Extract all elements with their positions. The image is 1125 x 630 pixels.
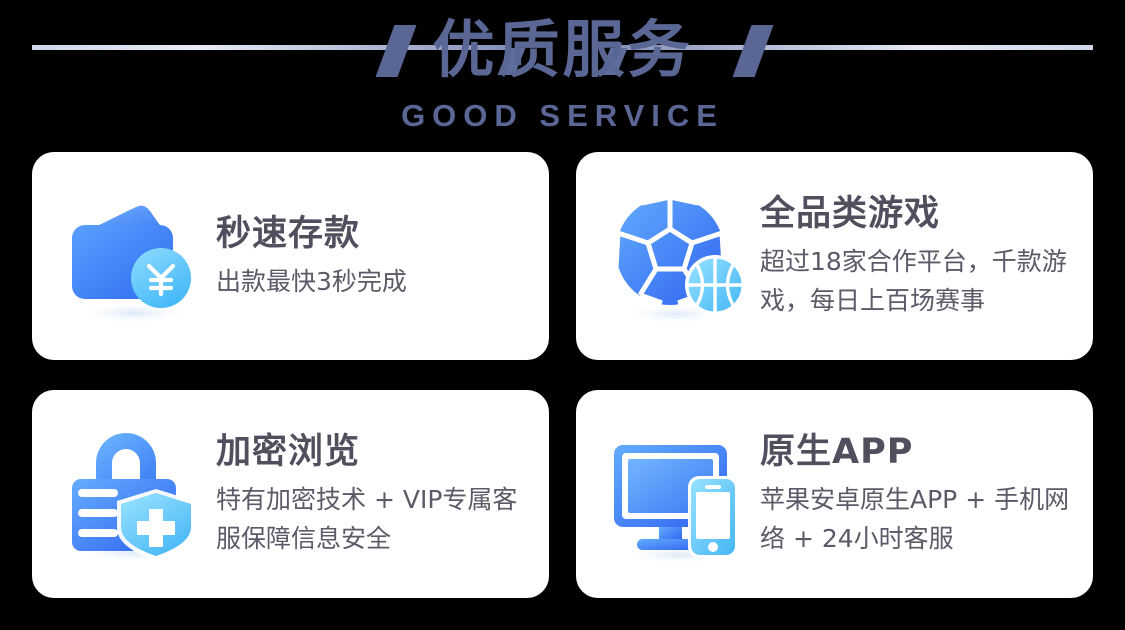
card-title: 全品类游戏 xyxy=(760,192,1081,236)
card-text-block: 原生APP 苹果安卓原生APP + 手机网络 + 24小时客服 xyxy=(754,430,1093,558)
card-description: 苹果安卓原生APP + 手机网络 + 24小时客服 xyxy=(760,480,1081,558)
soccer-basketball-icon xyxy=(604,181,754,331)
feature-card-grid: 秒速存款 出款最快3秒完成 xyxy=(32,152,1093,598)
card-title: 加密浏览 xyxy=(216,430,537,474)
card-description: 超过18家合作平台，千款游戏，每日上百场赛事 xyxy=(760,242,1081,320)
feature-card[interactable]: 原生APP 苹果安卓原生APP + 手机网络 + 24小时客服 xyxy=(576,390,1093,598)
feature-card[interactable]: 加密浏览 特有加密技术 + VIP专属客服保障信息安全 xyxy=(32,390,549,598)
card-description: 特有加密技术 + VIP专属客服保障信息安全 xyxy=(216,480,537,558)
card-text-block: 加密浏览 特有加密技术 + VIP专属客服保障信息安全 xyxy=(210,430,549,558)
card-description: 出款最快3秒完成 xyxy=(216,262,537,301)
page-title: 优质服务 xyxy=(0,8,1125,92)
card-text-block: 秒速存款 出款最快3秒完成 xyxy=(210,212,549,301)
card-title: 秒速存款 xyxy=(216,212,537,256)
lock-shield-icon xyxy=(60,419,210,569)
card-title: 原生APP xyxy=(760,430,1081,474)
page-subtitle: GOOD SERVICE xyxy=(0,98,1125,134)
feature-card[interactable]: 秒速存款 出款最快3秒完成 xyxy=(32,152,549,360)
monitor-phone-icon xyxy=(604,419,754,569)
feature-card[interactable]: 全品类游戏 超过18家合作平台，千款游戏，每日上百场赛事 xyxy=(576,152,1093,360)
wallet-yen-icon xyxy=(60,181,210,331)
page-header: 优质服务 GOOD SERVICE xyxy=(0,0,1125,148)
card-text-block: 全品类游戏 超过18家合作平台，千款游戏，每日上百场赛事 xyxy=(754,192,1093,320)
